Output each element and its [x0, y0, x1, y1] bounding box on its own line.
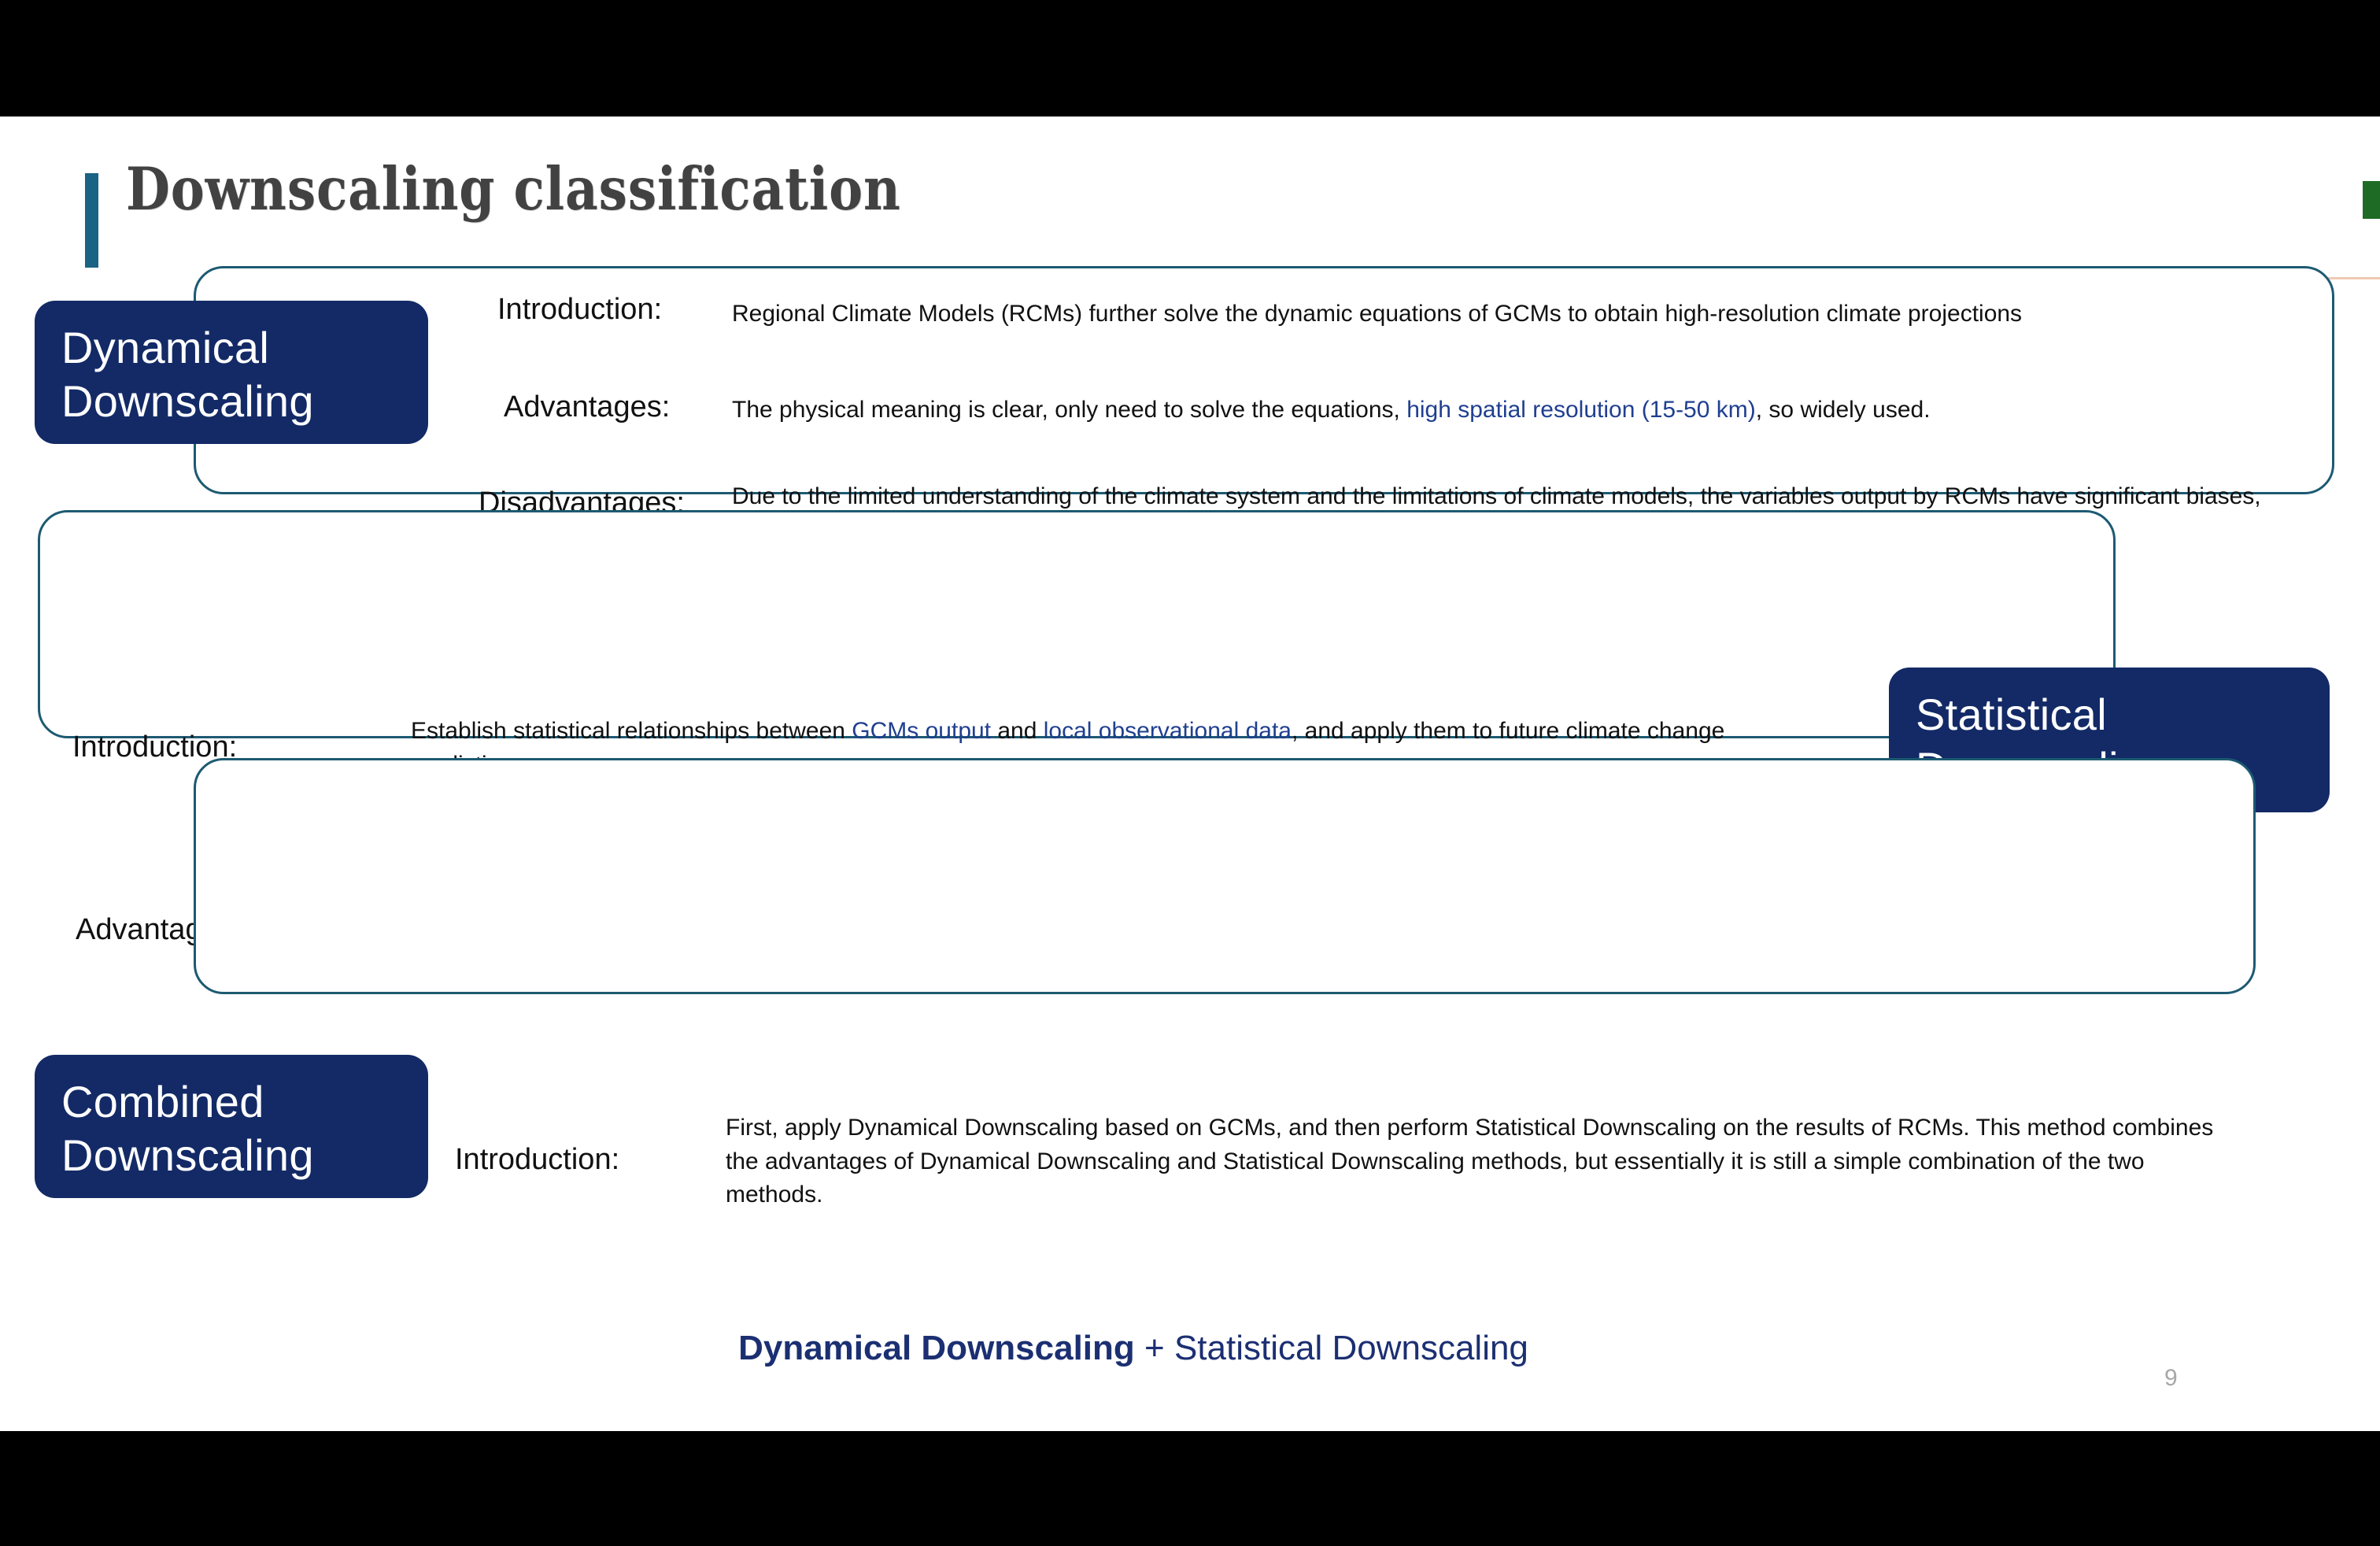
dynamical-advantages-text-part2: , so widely used. — [1756, 397, 1931, 423]
label-box-dynamical-downscaling: Dynamical Downscaling — [35, 301, 428, 444]
combined-introduction-text: First, apply Dynamical Downscaling based… — [726, 1111, 2221, 1212]
statistical-intro-highlight-observational: local observational data — [1044, 718, 1292, 744]
combined-summary-equation: Dynamical Downscaling + Statistical Down… — [441, 1329, 1826, 1368]
panel-statistical-downscaling — [38, 510, 2116, 738]
dynamical-advantages-text-part1: The physical meaning is clear, only need… — [732, 397, 1406, 423]
box-label-line2: Downscaling — [61, 1129, 401, 1182]
page-title: Downscaling classification — [126, 154, 901, 224]
dynamical-advantages-label: Advantages: — [504, 390, 670, 424]
panel-combined-downscaling — [194, 758, 2256, 994]
statistical-intro-part2: and — [991, 718, 1044, 744]
label-box-combined-downscaling: Combined Downscaling — [35, 1055, 428, 1198]
corner-marker-icon — [2363, 181, 2380, 219]
box-label-line1: Dynamical — [61, 321, 401, 375]
dynamical-advantages-highlight: high spatial resolution (15-50 km) — [1406, 397, 1756, 423]
combined-summary-dynamical: Dynamical Downscaling — [738, 1329, 1135, 1367]
statistical-intro-part1: Establish statistical relationships betw… — [411, 718, 852, 744]
box-label-line1: Statistical — [1916, 688, 2303, 742]
dynamical-introduction-text: Regional Climate Models (RCMs) further s… — [732, 298, 2306, 331]
box-label-line2: Downscaling — [61, 375, 401, 428]
dynamical-advantages-text: The physical meaning is clear, only need… — [732, 394, 2306, 427]
dynamical-introduction-label: Introduction: — [497, 293, 662, 327]
box-label-line1: Combined — [61, 1075, 401, 1129]
combined-introduction-label: Introduction: — [455, 1143, 619, 1177]
combined-summary-statistical: Statistical Downscaling — [1174, 1329, 1528, 1367]
combined-summary-plus: + — [1135, 1329, 1174, 1367]
slide-canvas: Downscaling classification Dynamical Dow… — [0, 117, 2380, 1431]
slide-stage: Downscaling classification Dynamical Dow… — [0, 0, 2380, 1546]
title-accent-bar — [85, 173, 98, 268]
statistical-intro-highlight-gcms: GCMs output — [852, 718, 991, 744]
page-number: 9 — [2164, 1365, 2178, 1392]
